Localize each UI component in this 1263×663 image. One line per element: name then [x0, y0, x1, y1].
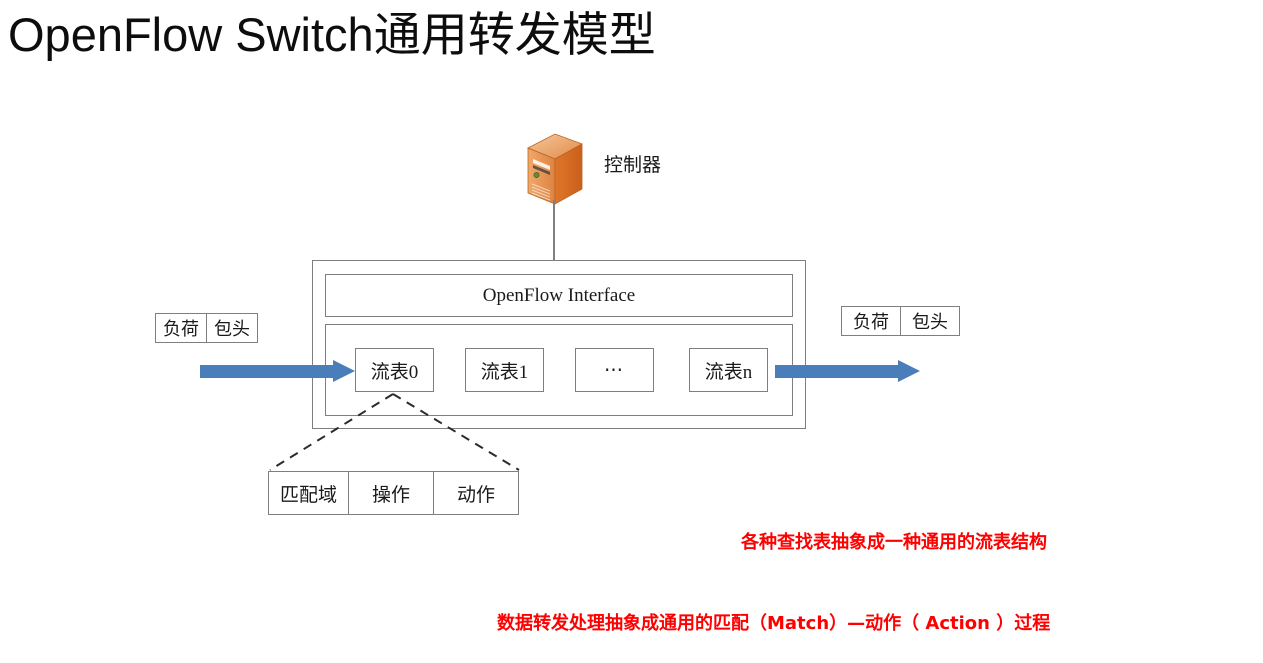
controller-connector-line — [553, 200, 555, 261]
packet-out-header-cell: 包头 — [900, 306, 960, 336]
flow-table-0[interactable]: 流表0 — [355, 348, 434, 392]
controller-label: 控制器 — [604, 150, 661, 177]
packet-in-header-cell: 包头 — [206, 313, 258, 343]
flow-entry-box: 匹配域 操作 动作 — [268, 471, 519, 515]
openflow-interface-box: OpenFlow Interface — [325, 274, 793, 317]
flow-entry-instruction-cell: 操作 — [348, 471, 434, 515]
packet-in-box: 负荷 包头 — [155, 313, 258, 343]
packet-out-arrow — [775, 360, 920, 382]
flow-table-n[interactable]: 流表n — [689, 348, 768, 392]
packet-out-arrow-shaft — [775, 365, 898, 378]
annotation-line-1: 各种查找表抽象成一种通用的流表结构 — [741, 528, 1047, 554]
flow-table-ellipsis: ⋯ — [575, 348, 654, 392]
flow-table-1[interactable]: 流表1 — [465, 348, 544, 392]
packet-in-arrow-head — [333, 360, 355, 382]
packet-in-payload-cell: 负荷 — [155, 313, 207, 343]
slide-canvas: OpenFlow Switch通用转发模型 — [0, 0, 1263, 663]
flow-entry-action-cell: 动作 — [433, 471, 519, 515]
packet-out-payload-cell: 负荷 — [841, 306, 901, 336]
server-tower-icon — [524, 131, 586, 207]
openflow-interface-label: OpenFlow Interface — [483, 285, 635, 307]
flow-entry-match-cell: 匹配域 — [268, 471, 349, 515]
packet-in-arrow — [200, 360, 355, 382]
annotation-line-2: 数据转发处理抽象成通用的匹配（Match）—动作（ Action ）过程 — [497, 609, 1050, 635]
page-title: OpenFlow Switch通用转发模型 — [8, 8, 656, 62]
packet-out-box: 负荷 包头 — [841, 306, 960, 336]
ellipsis-label: ⋯ — [604, 359, 625, 382]
packet-out-arrow-head — [898, 360, 920, 382]
packet-in-arrow-shaft — [200, 365, 333, 378]
